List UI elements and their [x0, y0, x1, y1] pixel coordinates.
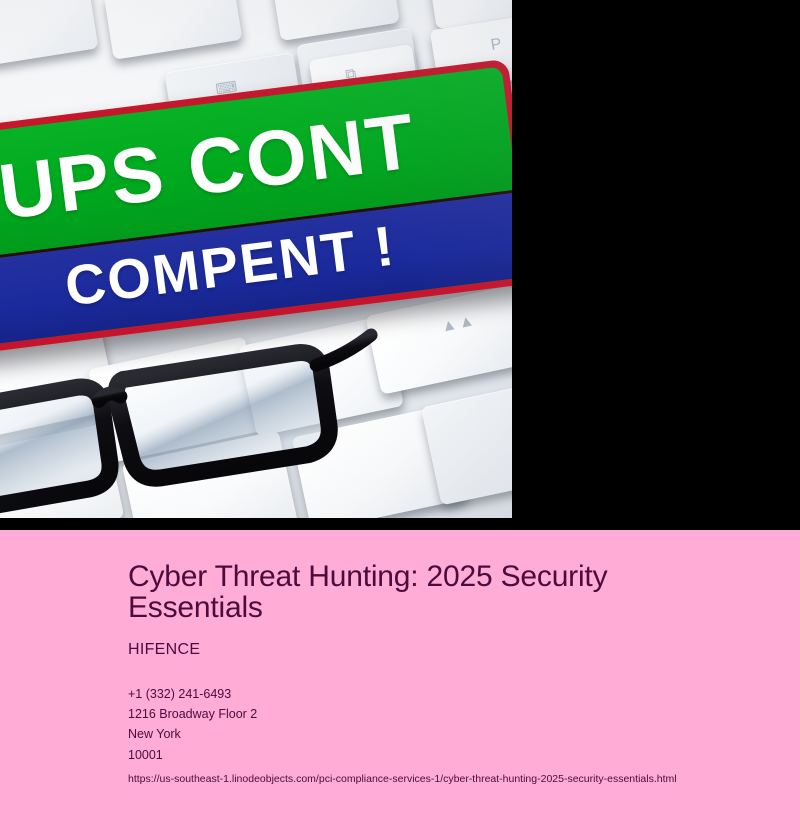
contact-street: 1216 Broadway Floor 2	[128, 704, 748, 724]
info-panel: Cyber Threat Hunting: 2025 Security Esse…	[0, 530, 800, 840]
brand-name: HIFENCE	[128, 641, 748, 659]
info-content: Cyber Threat Hunting: 2025 Security Esse…	[128, 562, 748, 786]
photo-depth-of-field-overlay	[0, 0, 512, 518]
contact-postal-code: 10001	[128, 745, 748, 765]
hero-stage: P ⌨ ⧉ ▲▲ UPS CONT COMPENT !	[0, 0, 800, 530]
contact-block: +1 (332) 241-6493 1216 Broadway Floor 2 …	[128, 684, 748, 765]
contact-phone: +1 (332) 241-6493	[128, 684, 748, 704]
page-title: Cyber Threat Hunting: 2025 Security Esse…	[128, 562, 673, 624]
hero-photo: P ⌨ ⧉ ▲▲ UPS CONT COMPENT !	[0, 0, 512, 518]
contact-city: New York	[128, 724, 748, 744]
source-url: https://us-southeast-1.linodeobjects.com…	[128, 773, 748, 787]
